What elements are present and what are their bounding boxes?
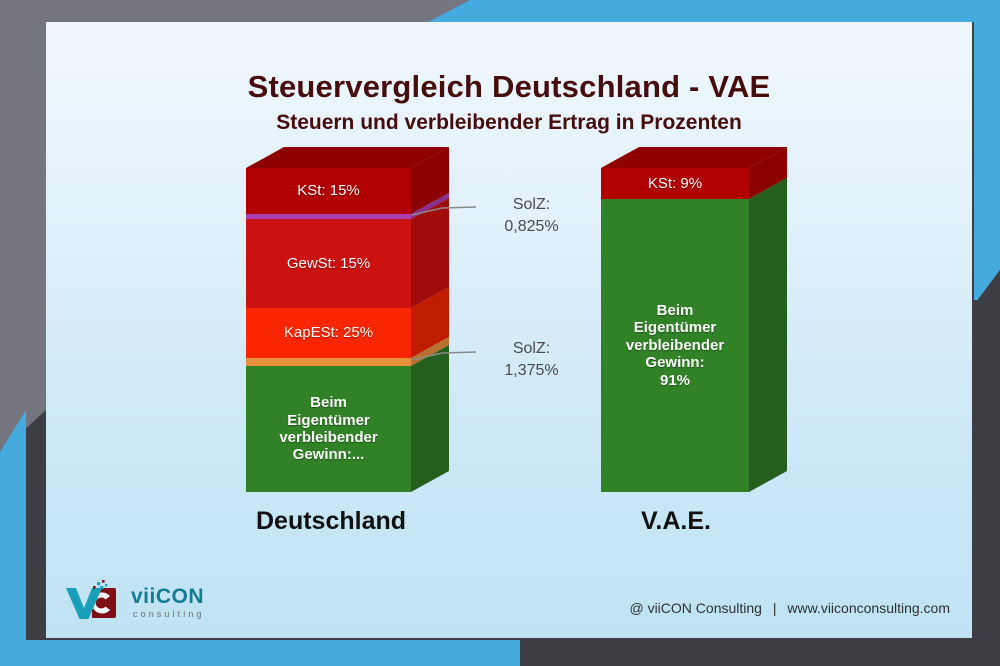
category-label-vae: V.A.E. [576,507,776,536]
segment-gewinn-vae-line-4: Gewinn: [645,354,704,371]
stacked-bar-chart: KSt: 15% GewSt: 15% KapESt: 25% Beim Eig… [46,22,972,638]
footer-credit: @ viiCON Consulting | www.viiconconsulti… [629,600,950,616]
segment-gewst-de-label: GewSt: 15% [287,255,370,272]
frame-band-dark-right [970,270,1000,666]
segment-solz-2-de[interactable] [246,358,411,366]
segment-kst-vae-label: KSt: 9% [648,175,702,192]
segment-gewinn-vae[interactable]: Beim Eigentümer verbleibender Gewinn: 91… [601,199,749,492]
callout-solz-0825: SolZ: 0,825% [474,194,589,237]
segment-gewinn-de[interactable]: Beim Eigentümer verbleibender Gewinn:... [246,366,411,492]
segment-kst-de-label: KSt: 15% [297,182,360,199]
category-label-deutschland: Deutschland [226,507,436,536]
callout-solz-0825-line-2: 0,825% [474,216,589,238]
frame-band-blue-bottom [0,640,560,666]
viicon-logo-icon [62,580,124,624]
slide-canvas: Steuervergleich Deutschland - VAE Steuer… [46,22,972,638]
callout-solz-0825-line-1: SolZ: [474,194,589,216]
callout-solz-1375-line-1: SolZ: [474,338,589,360]
callout-solz-1375: SolZ: 1,375% [474,338,589,381]
segment-kapest-de-label: KapESt: 25% [284,324,373,341]
brand-logo: viiCON consulting [62,580,205,624]
bar-vae[interactable]: KSt: 9% Beim Eigentümer verbleibender Ge… [601,147,749,492]
footer-website[interactable]: www.viiconconsulting.com [787,600,950,616]
segment-kst-vae[interactable]: KSt: 9% [601,168,749,199]
footer-copyright: @ viiCON Consulting [629,600,761,616]
segment-gewinn-vae-line-3: verbleibender [626,337,724,354]
bar-deutschland[interactable]: KSt: 15% GewSt: 15% KapESt: 25% Beim Eig… [246,147,411,492]
slide: Steuervergleich Deutschland - VAE Steuer… [0,0,1000,666]
segment-gewinn-de-line-4: Gewinn:... [293,446,365,463]
segment-gewst-de[interactable]: GewSt: 15% [246,219,411,308]
segment-gewinn-vae-line-5: 91% [660,372,690,389]
frame-band-dark-bottom [520,636,1000,666]
frame-band-gray-left [0,0,46,452]
segment-kapest-de[interactable]: KapESt: 25% [246,308,411,358]
segment-gewinn-de-line-2: Eigentümer [287,412,370,429]
segment-gewinn-de-line-3: verbleibender [279,429,377,446]
frame-band-blue-right [974,0,1000,300]
segment-gewinn-de-line-1: Beim [310,394,347,411]
segment-gewinn-vae-line-2: Eigentümer [634,319,717,336]
segment-kst-de[interactable]: KSt: 15% [246,168,411,214]
logo-tagline: consulting [133,610,205,619]
logo-wordmark: viiCON consulting [131,586,205,619]
footer-separator: | [773,600,777,616]
callout-leader-lines [46,22,972,638]
segment-gewinn-vae-line-1: Beim [657,302,694,319]
callout-solz-1375-line-2: 1,375% [474,360,589,382]
logo-name: viiCON [131,586,205,607]
